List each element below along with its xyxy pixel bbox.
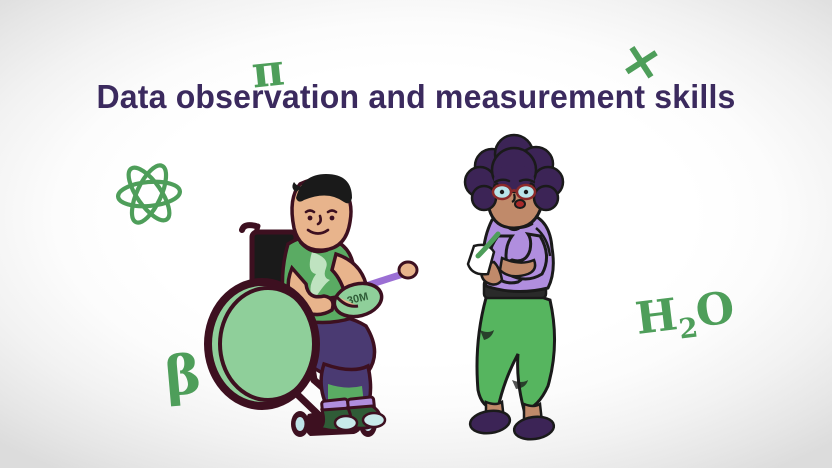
boy-shoe-toe-right [363,413,385,427]
girl-notepad [468,245,494,274]
girl-eye-right [524,190,528,194]
boy-right-hand [399,262,417,278]
boy-eye-right [330,216,335,221]
girl-mouth [515,200,525,208]
boy-eye-left [308,216,313,221]
h2o-o: O [693,282,737,337]
girl-with-notepad-illustration [440,140,600,440]
h2o-formula-doodle: H2O [633,286,737,349]
caster-hub-left [296,417,305,431]
illustration-canvas: π ✕ β H2O [0,0,832,468]
girl-shoe-left [469,408,512,435]
girl-eye-left [500,190,504,194]
girl-trousers [477,293,555,410]
boy-in-wheelchair-illustration: 30M [196,168,426,448]
girl-shoe-right [513,414,556,441]
wheelchair-push-handle [242,225,256,230]
atom-symbol-doodle [110,155,188,233]
page-title: Data observation and measurement skills [12,78,819,116]
boy-shoe-toe-left [335,416,357,430]
h2o-h: H [633,289,680,345]
